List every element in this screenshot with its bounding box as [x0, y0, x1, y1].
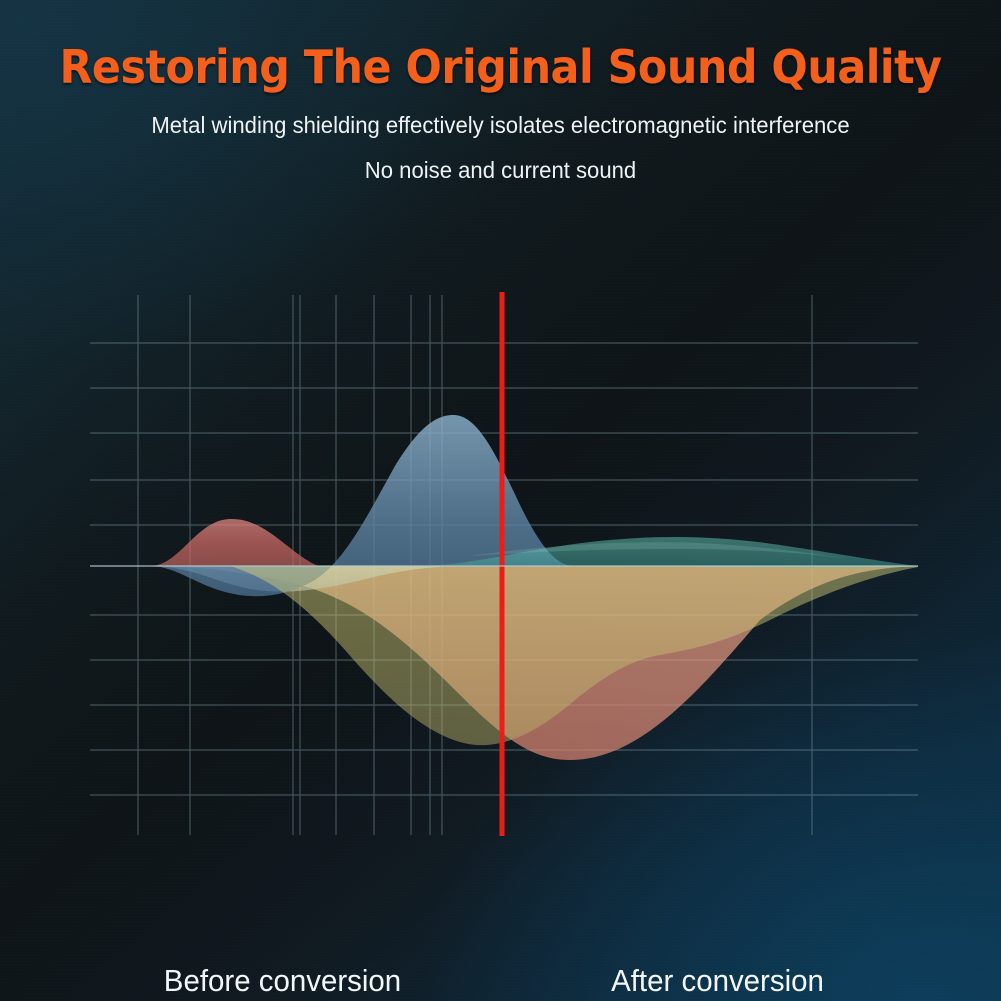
header-block: Restoring The Original Sound Quality Met…	[0, 0, 1001, 184]
page-title: Restoring The Original Sound Quality	[35, 0, 966, 94]
after-conversion-heading: After conversion	[539, 963, 895, 999]
subtitle-line-2: No noise and current sound	[30, 139, 971, 184]
subtitle-line-1: Metal winding shielding effectively isol…	[30, 94, 971, 139]
before-conversion-group: Before conversion Sound quality fluctuat…	[95, 963, 470, 1001]
after-conversion-group: After conversion Sound quality is stable	[530, 963, 905, 1001]
promo-graphic: Restoring The Original Sound Quality Met…	[0, 0, 1001, 1001]
before-conversion-heading: Before conversion	[104, 963, 460, 999]
